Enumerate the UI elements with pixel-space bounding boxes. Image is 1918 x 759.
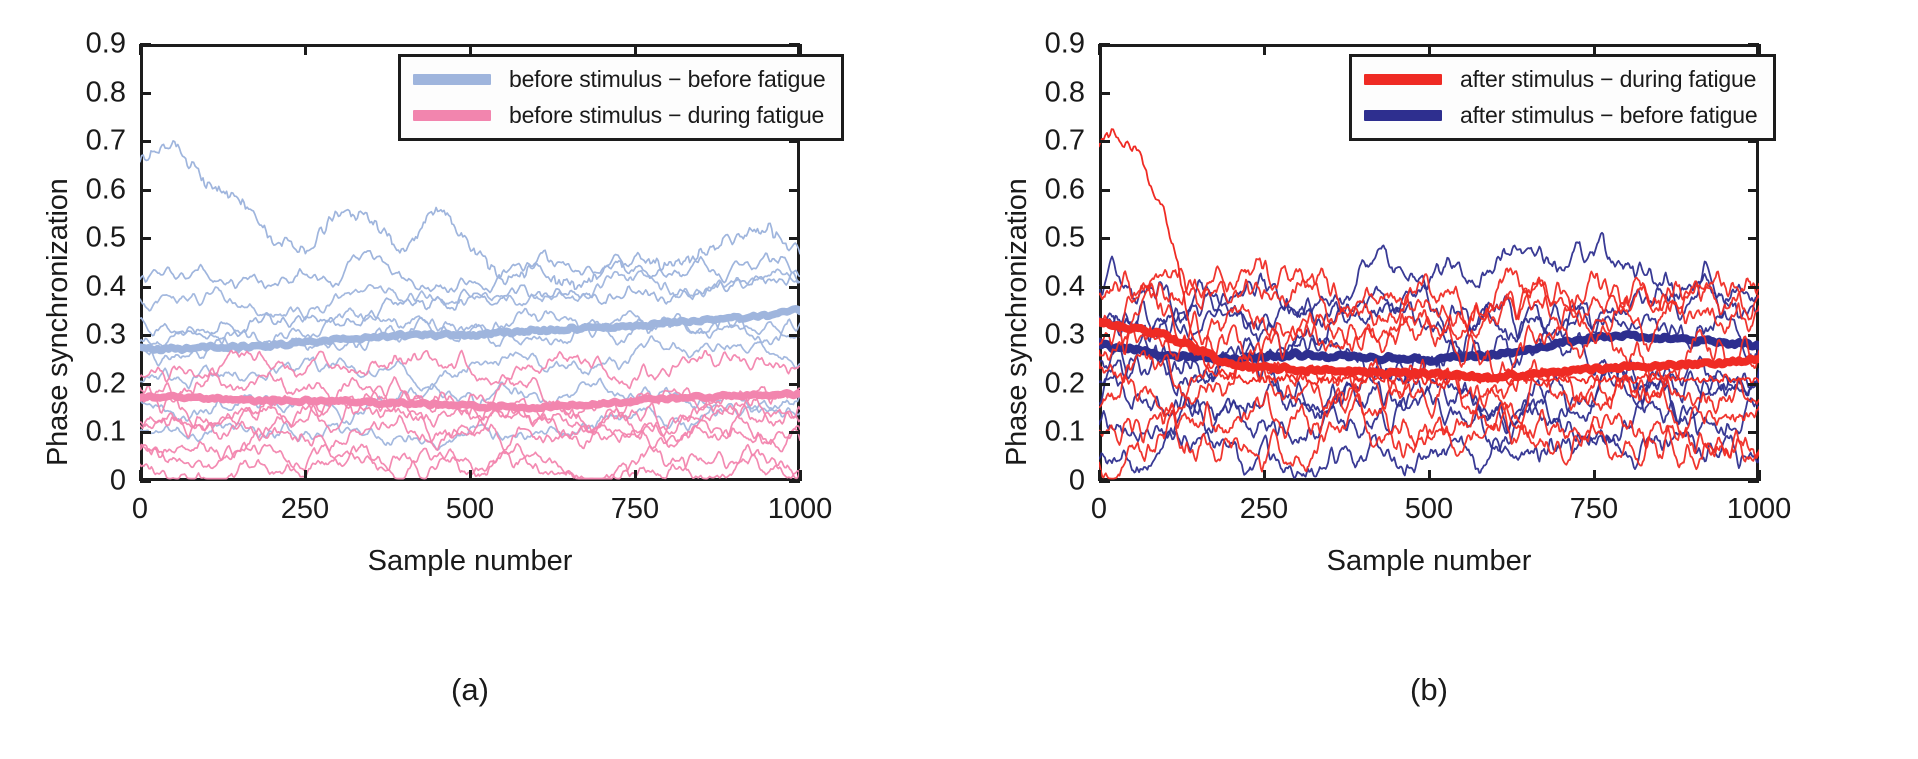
- y-tick-mark: [1748, 286, 1759, 289]
- legend-b[interactable]: after stimulus − during fatigue after st…: [1349, 54, 1776, 141]
- y-tick-mark: [1748, 334, 1759, 337]
- x-tick-mark: [799, 470, 802, 481]
- y-tick-mark: [1099, 140, 1110, 143]
- plot-area-a: 00.10.20.30.40.50.60.70.80.9025050075010…: [140, 44, 800, 481]
- legend-swatch-icon: [1364, 110, 1442, 121]
- y-tick-mark: [140, 286, 151, 289]
- y-tick-mark: [140, 140, 151, 143]
- y-tick-mark: [1099, 237, 1110, 240]
- y-tick-label: 0.5: [86, 222, 126, 255]
- panel-b: Phase synchronization 00.10.20.30.40.50.…: [959, 0, 1918, 759]
- x-tick-mark: [304, 44, 307, 55]
- y-tick-mark: [140, 92, 151, 95]
- x-tick-mark: [469, 470, 472, 481]
- legend-label: before stimulus − before fatigue: [509, 66, 825, 93]
- legend-item[interactable]: before stimulus − before fatigue: [413, 66, 825, 93]
- legend-item[interactable]: before stimulus − during fatigue: [413, 102, 825, 129]
- legend-label: before stimulus − during fatigue: [509, 102, 824, 129]
- y-tick-label: 0.2: [86, 367, 126, 400]
- legend-item[interactable]: after stimulus − during fatigue: [1364, 66, 1757, 93]
- y-tick-label: 0.1: [86, 416, 126, 449]
- y-tick-mark: [1099, 334, 1110, 337]
- x-tick-mark: [1428, 470, 1431, 481]
- y-tick-mark: [789, 334, 800, 337]
- figure-container: Phase synchronization 00.10.20.30.40.50.…: [0, 0, 1918, 759]
- y-tick-mark: [789, 286, 800, 289]
- legend-swatch-icon: [413, 110, 491, 121]
- x-tick-mark: [304, 470, 307, 481]
- y-tick-mark: [140, 431, 151, 434]
- y-tick-mark: [789, 431, 800, 434]
- x-tick-mark: [1758, 470, 1761, 481]
- y-tick-mark: [140, 383, 151, 386]
- y-tick-label: 0: [110, 465, 126, 498]
- y-tick-mark: [1099, 431, 1110, 434]
- y-tick-label: 0.6: [1045, 173, 1085, 206]
- y-tick-label: 0.2: [1045, 367, 1085, 400]
- x-tick-label: 0: [132, 493, 148, 526]
- x-tick-mark: [1098, 44, 1101, 55]
- y-axis-label-b: Phase synchronization: [1001, 178, 1034, 466]
- x-tick-label: 1000: [1727, 493, 1792, 526]
- x-tick-mark: [1263, 470, 1266, 481]
- x-axis-label-b: Sample number: [1099, 545, 1759, 578]
- y-tick-label: 0.3: [86, 319, 126, 352]
- x-tick-mark: [1098, 470, 1101, 481]
- y-tick-mark: [1748, 189, 1759, 192]
- y-tick-mark: [789, 189, 800, 192]
- y-tick-mark: [789, 383, 800, 386]
- y-tick-mark: [1099, 383, 1110, 386]
- plot-area-b: 00.10.20.30.40.50.60.70.80.9025050075010…: [1099, 44, 1759, 481]
- y-tick-label: 0.7: [1045, 125, 1085, 158]
- x-tick-label: 500: [1405, 493, 1453, 526]
- y-tick-label: 0.8: [86, 76, 126, 109]
- x-tick-label: 750: [1570, 493, 1618, 526]
- legend-label: after stimulus − before fatigue: [1460, 102, 1757, 129]
- y-tick-mark: [140, 334, 151, 337]
- y-tick-mark: [1748, 431, 1759, 434]
- panel-a: Phase synchronization 00.10.20.30.40.50.…: [0, 0, 959, 759]
- y-tick-mark: [1099, 286, 1110, 289]
- y-axis-label-a: Phase synchronization: [42, 178, 75, 466]
- x-tick-label: 500: [446, 493, 494, 526]
- legend-label: after stimulus − during fatigue: [1460, 66, 1756, 93]
- x-tick-mark: [139, 44, 142, 55]
- x-tick-label: 250: [281, 493, 329, 526]
- x-tick-mark: [1263, 44, 1266, 55]
- x-tick-label: 1000: [768, 493, 833, 526]
- panel-caption-a: (a): [140, 672, 800, 708]
- y-tick-label: 0.8: [1045, 76, 1085, 109]
- legend-swatch-icon: [1364, 74, 1442, 85]
- data-trace: [140, 250, 800, 292]
- y-tick-label: 0.6: [86, 173, 126, 206]
- legend-item[interactable]: after stimulus − before fatigue: [1364, 102, 1757, 129]
- y-tick-label: 0.9: [1045, 28, 1085, 61]
- x-tick-mark: [634, 470, 637, 481]
- y-tick-mark: [140, 237, 151, 240]
- x-axis-label-a: Sample number: [140, 545, 800, 578]
- data-trace: [140, 141, 800, 289]
- x-tick-label: 0: [1091, 493, 1107, 526]
- y-tick-label: 0.5: [1045, 222, 1085, 255]
- y-tick-mark: [140, 189, 151, 192]
- x-tick-mark: [139, 470, 142, 481]
- legend-swatch-icon: [413, 74, 491, 85]
- y-tick-label: 0.1: [1045, 416, 1085, 449]
- y-tick-mark: [789, 237, 800, 240]
- y-tick-label: 0.3: [1045, 319, 1085, 352]
- legend-a[interactable]: before stimulus − before fatigue before …: [398, 54, 844, 141]
- y-tick-label: 0.4: [86, 270, 126, 303]
- y-tick-mark: [1748, 383, 1759, 386]
- x-tick-label: 250: [1240, 493, 1288, 526]
- x-tick-mark: [1593, 470, 1596, 481]
- panel-caption-b: (b): [1099, 672, 1759, 708]
- data-trace: [140, 351, 800, 389]
- y-tick-mark: [1099, 92, 1110, 95]
- x-tick-label: 750: [611, 493, 659, 526]
- y-tick-label: 0.4: [1045, 270, 1085, 303]
- y-tick-label: 0: [1069, 465, 1085, 498]
- data-trace: [140, 269, 800, 319]
- y-tick-mark: [1748, 237, 1759, 240]
- y-tick-label: 0.7: [86, 125, 126, 158]
- y-tick-label: 0.9: [86, 28, 126, 61]
- y-tick-mark: [1099, 189, 1110, 192]
